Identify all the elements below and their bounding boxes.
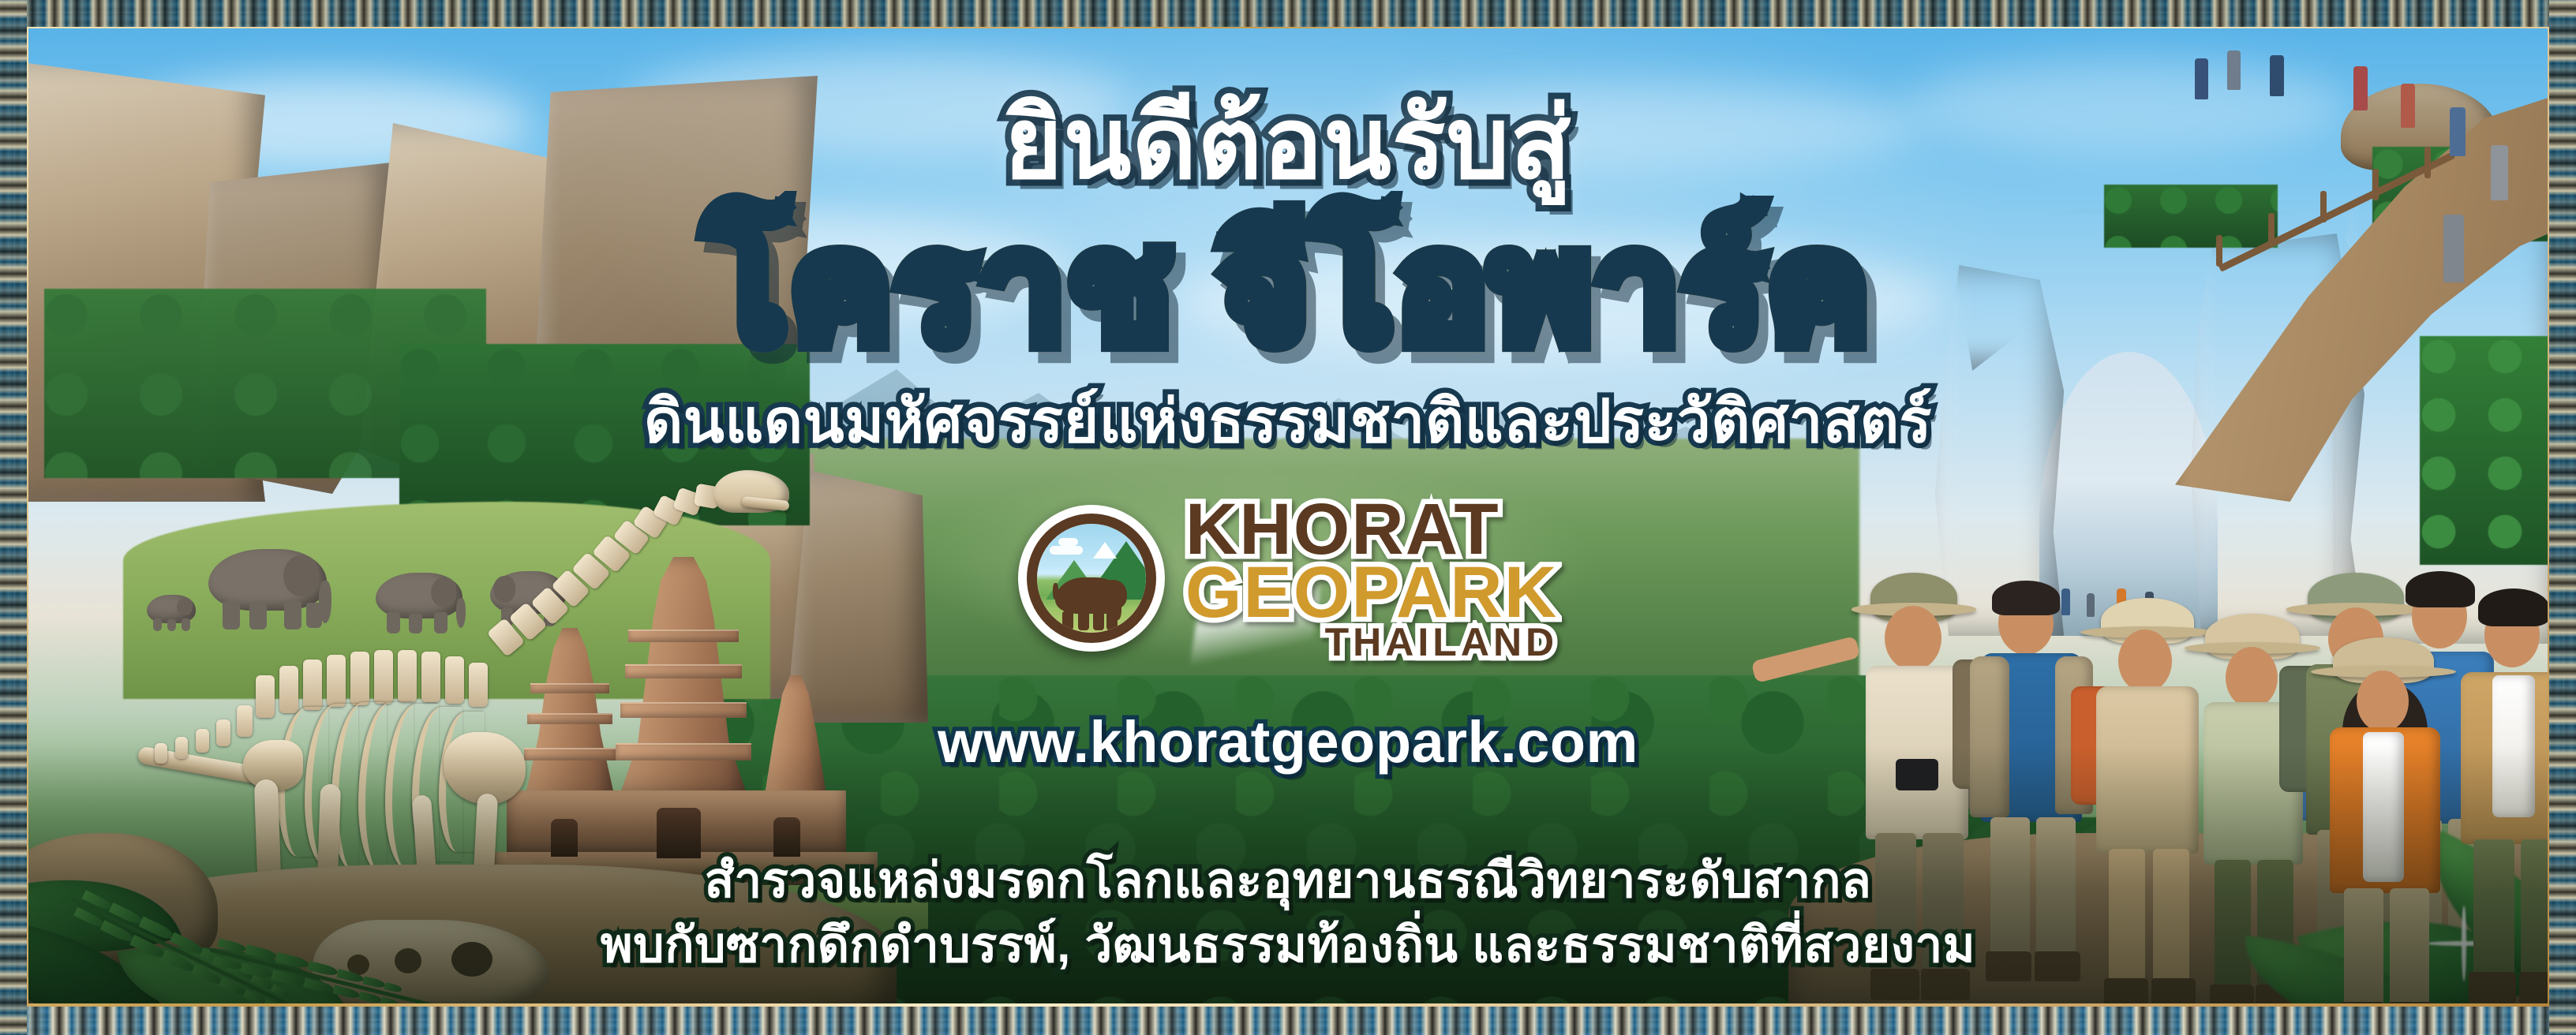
- khorat-geopark-banner: ยินดีต้อนรับสู่ โคราช จีโอพาร์ค ดินแดนมห…: [0, 0, 2576, 1035]
- elephant-leg: [1093, 611, 1104, 630]
- ornate-frame-left: [0, 0, 27, 1035]
- elephant-tail: [1053, 583, 1058, 600]
- page-title: โคราช จีโอพาร์ค: [28, 208, 2548, 369]
- cloud-icon: [1058, 538, 1078, 546]
- welcome-line: ยินดีต้อนรับสู่: [28, 90, 2548, 197]
- logo-emblem: [1018, 505, 1165, 652]
- logo-scene: [1037, 524, 1146, 633]
- elephant-leg: [1106, 611, 1118, 630]
- snow-cap-icon: [1093, 542, 1117, 559]
- cloud-icon: [1050, 546, 1082, 555]
- logo-line-geopark: GEOPARK: [1185, 559, 1558, 626]
- logo-wordmark: KHORAT GEOPARK THAILAND: [1185, 495, 1558, 661]
- logo-ring: [1027, 514, 1156, 643]
- website-url[interactable]: www.khoratgeopark.com: [28, 708, 2548, 775]
- scenic-background: ยินดีต้อนรับสู่ โคราช จีโอพาร์ค ดินแดนมห…: [28, 28, 2548, 1007]
- text-overlay: ยินดีต้อนรับสู่ โคราช จีโอพาร์ค ดินแดนมห…: [28, 28, 2548, 1007]
- tagline: ดินแดนมหัศจรรย์แห่งธรรมชาติและประวัติศาส…: [28, 387, 2548, 456]
- elephant-icon: [1055, 577, 1123, 615]
- footer-line-1: สำรวจแหล่งมรดกโลกและอุทยานธรณีวิทยาระดับ…: [28, 849, 2548, 914]
- footer-description: สำรวจแหล่งมรดกโลกและอุทยานธรณีวิทยาระดับ…: [28, 849, 2548, 978]
- ornate-frame-right: [2549, 0, 2576, 1035]
- ornate-frame-top: [0, 0, 2576, 27]
- ornate-frame-bottom: [0, 1007, 2576, 1035]
- elephant-leg: [1062, 611, 1073, 630]
- elephant-leg: [1078, 611, 1089, 630]
- logo-line-thailand: THAILAND: [1325, 624, 1559, 661]
- footer-line-2: พบกับซากดึกดำบรรพ์, วัฒนธรรมท้องถิ่น และ…: [28, 914, 2548, 978]
- khorat-geopark-logo: KHORAT GEOPARK THAILAND: [28, 495, 2548, 661]
